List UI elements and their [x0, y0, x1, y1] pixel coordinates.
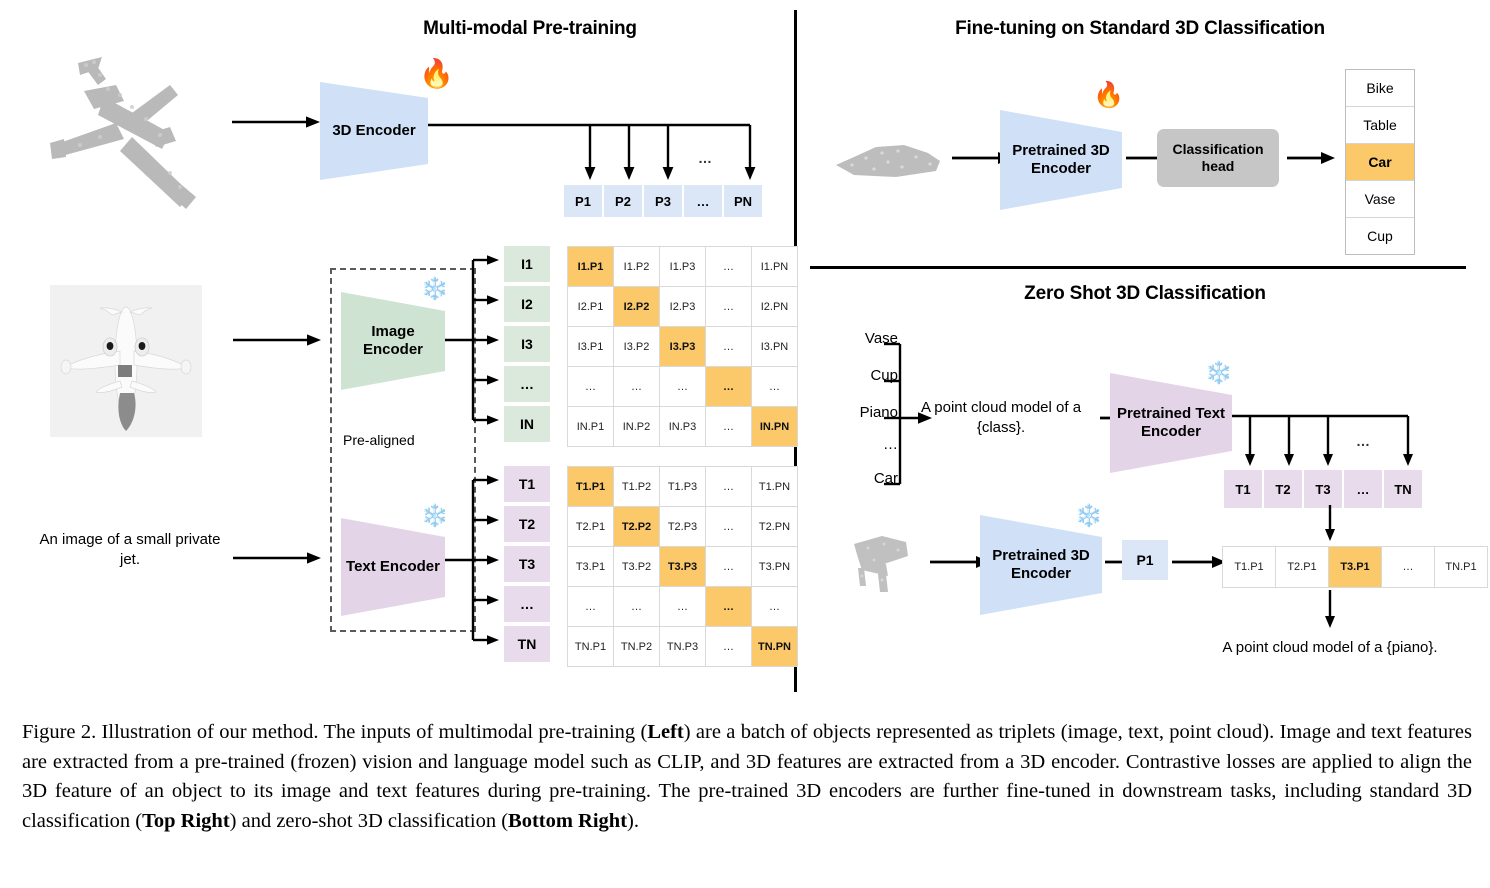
text-similarity-cell: T3.PN	[752, 547, 797, 586]
pointcloud-token-cell: P1	[564, 185, 602, 217]
image-similarity-cell: IN.P3	[660, 407, 705, 446]
figure-root: Multi-modal Pre-training	[0, 0, 1490, 888]
vocabulary-item: …	[883, 436, 898, 453]
vocabulary-item: Cup	[870, 367, 898, 384]
image-label-item: I3	[504, 326, 550, 362]
pointcloud-token-cell: …	[684, 185, 722, 217]
caption-emphasis: Top Right	[142, 810, 230, 832]
pointcloud-token-strip: P1P2P3…PN	[564, 185, 762, 217]
text-similarity-cell: …	[706, 467, 751, 506]
text-label-item: T3	[504, 546, 550, 582]
arrow-ttokens-to-similarity	[1320, 505, 1340, 545]
image-similarity-cell: …	[706, 247, 751, 286]
image-similarity-cell: I1.PN	[752, 247, 797, 286]
point-cloud-piano	[848, 530, 922, 596]
image-similarity-cell: I2.P2	[614, 287, 659, 326]
text-token-zeroshot-cell: TN	[1384, 470, 1422, 508]
text-label-item: T1	[504, 466, 550, 502]
pointcloud-token-cell: P2	[604, 185, 642, 217]
class-list-item[interactable]: Cup	[1346, 218, 1414, 254]
text-similarity-cell: …	[706, 587, 751, 626]
image-similarity-cell: …	[568, 367, 613, 406]
threed-encoder: 3D Encoder	[320, 82, 428, 180]
image-similarity-cell: IN.PN	[752, 407, 797, 446]
text-similarity-cell: T2.PN	[752, 507, 797, 546]
image-similarity-cell: I2.P1	[568, 287, 613, 326]
prompt-template-text: A point cloud model of a {class}.	[908, 398, 1094, 438]
caption-text: Figure 2. Illustration of our method. Th…	[22, 721, 647, 743]
text-similarity-cell: T1.PN	[752, 467, 797, 506]
vocabulary-item: Piano	[860, 404, 898, 421]
zeroshot-similarity-row: T1.P1T2.P1T3.P1…TN.P1	[1222, 546, 1488, 588]
snowflake-icon-text: ❄️	[421, 505, 448, 527]
zeroshot-similarity-cell: T2.P1	[1276, 547, 1328, 587]
caption-emphasis: Left	[647, 721, 683, 743]
pretrained-text-encoder-label: Pretrained Text Encoder	[1110, 405, 1232, 440]
p1-token-label: P1	[1136, 552, 1153, 569]
arrow-pointcloud-to-encoder	[232, 112, 322, 132]
image-encoder-label: Image Encoder	[341, 323, 445, 358]
image-similarity-cell: …	[660, 367, 705, 406]
arrow-head-to-classes	[1287, 148, 1337, 168]
class-list-item[interactable]: Table	[1346, 107, 1414, 144]
finetune-threed-encoder-label: Pretrained 3D Encoder	[1000, 142, 1122, 177]
image-similarity-cell: I1.P1	[568, 247, 613, 286]
image-similarity-cell: …	[706, 287, 751, 326]
text-token-zeroshot-cell: T3	[1304, 470, 1342, 508]
image-similarity-cell: I2.PN	[752, 287, 797, 326]
classification-head-label: Classification head	[1157, 141, 1279, 175]
text-similarity-cell: …	[706, 547, 751, 586]
figure-caption: Figure 2. Illustration of our method. Th…	[22, 718, 1472, 836]
arrow-p1-to-similarity	[1172, 552, 1228, 572]
image-similarity-cell: I2.P3	[660, 287, 705, 326]
image-similarity-cell: I1.P2	[614, 247, 659, 286]
zeroshot-result-text: A point cloud model of a {piano}.	[1190, 638, 1470, 658]
text-similarity-cell: TN.P2	[614, 627, 659, 666]
image-similarity-cell: …	[752, 367, 797, 406]
text-similarity-cell: …	[568, 587, 613, 626]
point-cloud-car	[832, 135, 944, 185]
caption-emphasis: Bottom Right	[508, 810, 627, 832]
text-label-item: TN	[504, 626, 550, 662]
image-similarity-cell: IN.P1	[568, 407, 613, 446]
p1-token-zeroshot: P1	[1122, 540, 1168, 580]
pretrained-threed-encoder-label-zeroshot: Pretrained 3D Encoder	[980, 547, 1102, 582]
arrow-similarity-to-result	[1320, 590, 1340, 632]
text-similarity-cell: …	[706, 507, 751, 546]
pointcloud-token-cell: P3	[644, 185, 682, 217]
caption-text: ) and zero-shot 3D classification (	[230, 810, 508, 832]
image-similarity-cell: IN.P2	[614, 407, 659, 446]
text-similarity-cell: T1.P1	[568, 467, 613, 506]
vocabulary-item: Car	[874, 470, 898, 487]
text-similarity-cell: …	[752, 587, 797, 626]
image-similarity-cell: I3.PN	[752, 327, 797, 366]
image-similarity-cell: I3.P3	[660, 327, 705, 366]
pretrained-threed-encoder-zeroshot: Pretrained 3D Encoder	[980, 515, 1102, 615]
image-label-item: I1	[504, 246, 550, 282]
text-token-zeroshot-cell: …	[1344, 470, 1382, 508]
zeroshot-similarity-cell: T1.P1	[1223, 547, 1275, 587]
text-similarity-cell: T3.P2	[614, 547, 659, 586]
text-token-zeroshot-cell: T2	[1264, 470, 1302, 508]
class-list[interactable]: BikeTableCarVaseCup	[1345, 69, 1415, 255]
image-label-item: …	[504, 366, 550, 402]
text-similarity-cell: T2.P2	[614, 507, 659, 546]
class-list-item[interactable]: Vase	[1346, 181, 1414, 218]
bottom-right-panel-title: Zero Shot 3D Classification	[910, 283, 1380, 305]
prealigned-label: Pre-aligned	[343, 432, 415, 448]
image-similarity-cell: I3.P2	[614, 327, 659, 366]
text-similarity-cell: …	[660, 587, 705, 626]
image-label-item: I2	[504, 286, 550, 322]
image-similarity-cell: …	[614, 367, 659, 406]
text-encoder-label: Text Encoder	[346, 558, 440, 576]
horizontal-divider	[810, 266, 1466, 269]
classification-head: Classification head	[1157, 129, 1279, 187]
image-similarity-cell: …	[706, 327, 751, 366]
zeroshot-similarity-cell: TN.P1	[1435, 547, 1487, 587]
threed-encoder-label: 3D Encoder	[332, 122, 415, 140]
jet-image-thumbnail	[50, 285, 202, 437]
image-similarity-cell: I3.P1	[568, 327, 613, 366]
fire-icon-finetune: 🔥	[1093, 83, 1124, 108]
pointcloud-token-ellipsis: …	[698, 150, 712, 166]
zeroshot-similarity-cell: T3.P1	[1329, 547, 1381, 587]
text-token-strip-zeroshot: T1T2T3…TN	[1224, 470, 1422, 508]
text-similarity-cell: T3.P1	[568, 547, 613, 586]
image-similarity-cell: …	[706, 367, 751, 406]
finetune-threed-encoder: Pretrained 3D Encoder	[1000, 110, 1122, 210]
text-input-caption: An image of a small private jet.	[30, 530, 230, 570]
text-encoder: Text Encoder	[341, 518, 445, 616]
image-label-item: IN	[504, 406, 550, 442]
arrow-image-to-encoder	[233, 330, 323, 350]
text-similarity-cell: T2.P3	[660, 507, 705, 546]
text-similarity-cell: …	[706, 627, 751, 666]
text-label-column: T1T2T3…TN	[504, 466, 550, 662]
text-similarity-cell: T1.P3	[660, 467, 705, 506]
pointcloud-token-cell: PN	[724, 185, 762, 217]
fire-icon: 🔥	[419, 60, 454, 88]
text-token-fanout-zeroshot	[1232, 410, 1414, 474]
class-list-item[interactable]: Car	[1346, 144, 1414, 181]
zeroshot-similarity-cell: …	[1382, 547, 1434, 587]
class-list-item[interactable]: Bike	[1346, 70, 1414, 107]
caption-text: ).	[627, 810, 639, 832]
text-token-zeroshot-cell: T1	[1224, 470, 1262, 508]
text-similarity-cell: T2.P1	[568, 507, 613, 546]
vocabulary-list: VaseCupPiano…Car	[820, 330, 898, 490]
left-panel-title: Multi-modal Pre-training	[290, 18, 770, 40]
text-token-ellipsis-zeroshot: …	[1356, 433, 1370, 449]
text-similarity-cell: T1.P2	[614, 467, 659, 506]
snowflake-icon-zeroshot-text: ❄️	[1205, 362, 1232, 384]
image-pointcloud-similarity-matrix: I1.P1I1.P2I1.P3…I1.PNI2.P1I2.P2I2.P3…I2.…	[567, 246, 798, 447]
text-pointcloud-similarity-matrix: T1.P1T1.P2T1.P3…T1.PNT2.P1T2.P2T2.P3…T2.…	[567, 466, 798, 667]
pretrained-text-encoder: Pretrained Text Encoder	[1110, 373, 1232, 473]
text-similarity-cell: TN.P3	[660, 627, 705, 666]
snowflake-icon-image: ❄️	[421, 278, 448, 300]
image-similarity-cell: I1.P3	[660, 247, 705, 286]
image-similarity-cell: …	[706, 407, 751, 446]
image-label-column: I1I2I3…IN	[504, 246, 550, 442]
text-label-item: T2	[504, 506, 550, 542]
arrow-text-to-encoder	[233, 548, 323, 568]
top-right-panel-title: Fine-tuning on Standard 3D Classificatio…	[880, 18, 1400, 40]
text-similarity-cell: T3.P3	[660, 547, 705, 586]
text-similarity-cell: TN.P1	[568, 627, 613, 666]
image-encoder: Image Encoder	[341, 292, 445, 390]
snowflake-icon-zeroshot-3d: ❄️	[1075, 505, 1102, 527]
point-cloud-airplane	[20, 45, 235, 220]
text-similarity-cell: …	[614, 587, 659, 626]
vocabulary-item: Vase	[865, 330, 898, 347]
text-similarity-cell: TN.PN	[752, 627, 797, 666]
text-label-item: …	[504, 586, 550, 622]
